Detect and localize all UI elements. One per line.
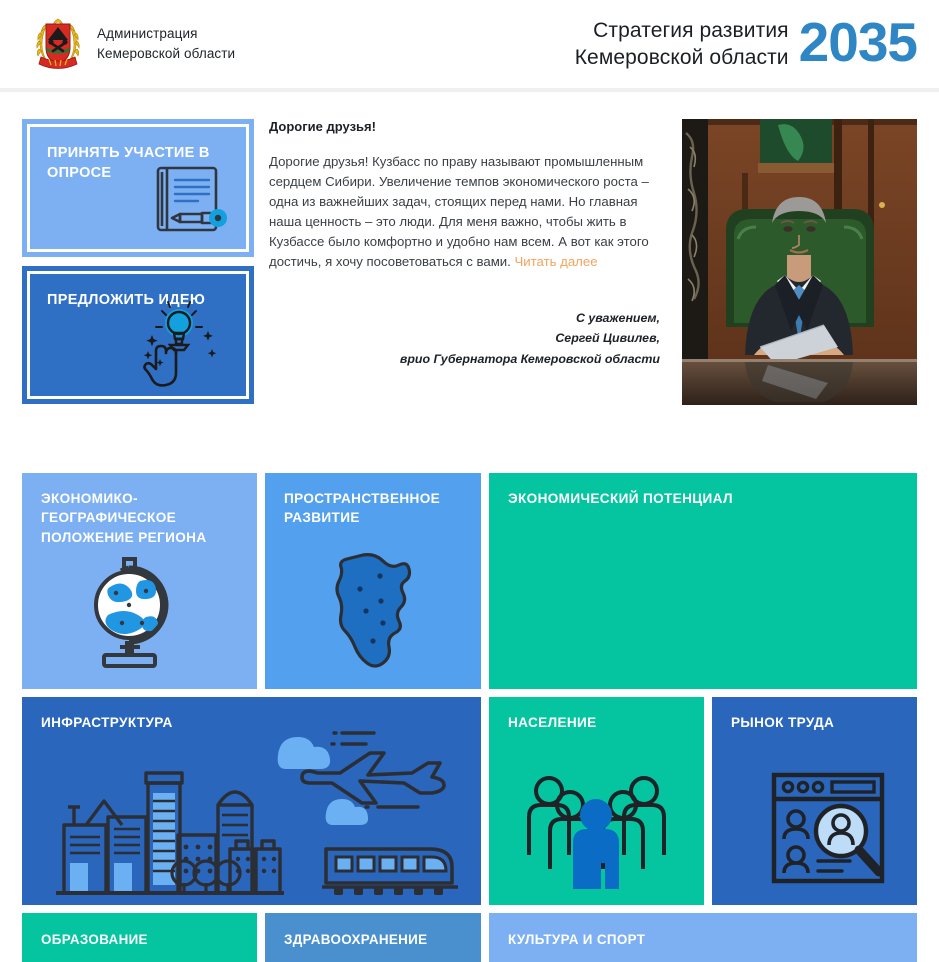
brand-line-2: Кемеровской области (97, 44, 235, 64)
tile-population[interactable]: НАСЕЛЕНИЕ (489, 697, 704, 905)
tile-economic-geographic-position[interactable]: ЭКОНОМИКО-ГЕОГРАФИЧЕСКОЕ ПОЛОЖЕНИЕ РЕГИО… (22, 473, 257, 689)
tile-title: ЭКОНОМИЧЕСКИЙ ПОТЕНЦИАЛ (508, 489, 903, 508)
tiles-row-2: ИНФРАСТРУКТУРА (22, 697, 917, 905)
tile-spatial-development[interactable]: ПРОСТРАНСТВЕННОЕ РАЗВИТИЕ (265, 473, 481, 689)
tile-economic-potential[interactable]: ЭКОНОМИЧЕСКИЙ ПОТЕНЦИАЛ (489, 473, 917, 689)
letter-signature: С уважением, Сергей Цивилев, врио Губерн… (269, 308, 660, 368)
governor-photo (682, 119, 917, 405)
strategy-line-2: Кемеровской области (575, 44, 789, 71)
notebook-pencil-icon (142, 162, 234, 245)
read-more-link[interactable]: Читать далее (514, 254, 597, 269)
site-header: Администрация Кемеровской области Страте… (0, 0, 939, 88)
tile-infrastructure[interactable]: ИНФРАСТРУКТУРА (22, 697, 481, 905)
signature-line-1: С уважением, (269, 308, 660, 328)
kemerovo-coat-of-arms-icon (32, 13, 84, 75)
intro-section: ПРИНЯТЬ УЧАСТИЕ В ОПРОСЕ (0, 92, 939, 413)
brand-text: Администрация Кемеровской области (97, 24, 235, 63)
tile-healthcare[interactable]: ЗДРАВООХРАНЕНИЕ (265, 913, 481, 962)
take-part-in-poll-button[interactable]: ПРИНЯТЬ УЧАСТИЕ В ОПРОСЕ (22, 119, 254, 257)
suggest-idea-button[interactable]: ПРЕДЛОЖИТЬ ИДЕЮ (22, 266, 254, 404)
tile-title: ПРОСТРАНСТВЕННОЕ РАЗВИТИЕ (284, 489, 467, 528)
tile-title: НАСЕЛЕНИЕ (508, 713, 690, 732)
tile-education[interactable]: ОБРАЗОВАНИЕ (22, 913, 257, 962)
tile-title: ЗДРАВООХРАНЕНИЕ (284, 930, 467, 949)
brand-block[interactable]: Администрация Кемеровской области (32, 13, 235, 75)
topic-tiles-grid: ЭКОНОМИКО-ГЕОГРАФИЧЕСКОЕ ПОЛОЖЕНИЕ РЕГИО… (0, 413, 939, 962)
strategy-year: 2035 (799, 15, 917, 73)
tiles-row-1: ЭКОНОМИКО-ГЕОГРАФИЧЕСКОЕ ПОЛОЖЕНИЕ РЕГИО… (22, 473, 917, 689)
tile-labor-market[interactable]: РЫНОК ТРУДА (712, 697, 917, 905)
letter-greeting: Дорогие друзья! (269, 119, 660, 134)
tile-title: РЫНОК ТРУДА (731, 713, 903, 732)
signature-line-3: врио Губернатора Кемеровской области (269, 349, 660, 369)
strategy-title: Стратегия развития Кемеровской области (575, 17, 789, 72)
tile-title: ЭКОНОМИКО-ГЕОГРАФИЧЕСКОЕ ПОЛОЖЕНИЕ РЕГИО… (41, 489, 243, 547)
strategy-line-1: Стратегия развития (575, 17, 789, 44)
action-buttons: ПРИНЯТЬ УЧАСТИЕ В ОПРОСЕ (22, 119, 254, 413)
tile-culture-and-sport[interactable]: КУЛЬТУРА И СПОРТ (489, 913, 917, 962)
letter-body-text: Дорогие друзья! Кузбасс по праву называю… (269, 154, 649, 269)
governor-photo-wrap (682, 119, 917, 413)
tiles-row-3: ОБРАЗОВАНИЕ ЗДРАВООХРАНЕНИЕ КУЛЬТУРА И С… (22, 913, 917, 962)
tile-title: ОБРАЗОВАНИЕ (41, 930, 243, 949)
tile-title: КУЛЬТУРА И СПОРТ (508, 930, 903, 949)
governor-letter: Дорогие друзья! Дорогие друзья! Кузбасс … (254, 119, 682, 413)
brand-line-1: Администрация (97, 24, 235, 44)
tile-title: ИНФРАСТРУКТУРА (41, 713, 467, 732)
letter-body: Дорогие друзья! Кузбасс по праву называю… (269, 152, 660, 272)
lightbulb-hand-idea-icon (124, 299, 234, 392)
signature-line-2: Сергей Цивилев, (269, 328, 660, 348)
header-right: Стратегия развития Кемеровской области 2… (575, 15, 917, 73)
